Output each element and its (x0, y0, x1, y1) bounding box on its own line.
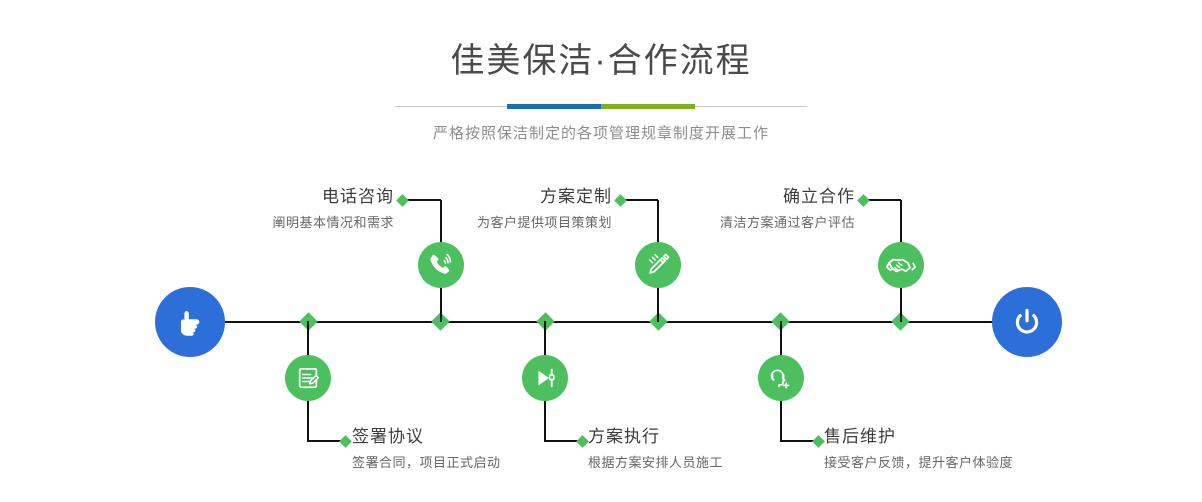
play-execute-icon (531, 364, 559, 392)
document-edit-icon (294, 364, 322, 392)
step-label-1: 电话咨询 阐明基本情况和需求 (150, 188, 394, 229)
step-title: 电话咨询 (150, 188, 394, 205)
connector-tip (339, 435, 352, 448)
handshake-icon (886, 250, 916, 280)
step-desc: 为客户提供项目策策划 (390, 216, 612, 229)
timeline-start-node[interactable] (155, 287, 225, 357)
step-desc: 根据方案安排人员施工 (588, 456, 846, 469)
step-title: 方案定制 (390, 188, 612, 205)
step-desc: 签署合同，项目正式启动 (352, 456, 612, 469)
connector-tip (614, 194, 627, 207)
phone-call-icon (426, 250, 456, 280)
timeline-end-node[interactable] (992, 287, 1062, 357)
step-title: 确立合作 (640, 188, 855, 205)
step-desc: 清洁方案通过客户评估 (640, 216, 855, 229)
step-icon-6[interactable] (758, 355, 804, 401)
step-icon-1[interactable] (418, 242, 464, 288)
pointing-hand-icon (170, 302, 210, 342)
step-label-3: 方案定制 为客户提供项目策策划 (390, 188, 612, 229)
connector-tip (857, 194, 870, 207)
step-label-6: 售后维护 接受客户反馈，提升客户体验度 (824, 428, 1124, 469)
flow-chart-page: 佳美保洁·合作流程 严格按照保洁制定的各项管理规章制度开展工作 (0, 0, 1202, 502)
step-label-4: 方案执行 根据方案安排人员施工 (588, 428, 846, 469)
pencil-ruler-icon (644, 251, 672, 279)
step-icon-5[interactable] (878, 242, 924, 288)
customer-service-icon (767, 364, 795, 392)
process-timeline: 电话咨询 阐明基本情况和需求 签署协议 签署合同，项目正式启动 (0, 0, 1202, 502)
step-label-2: 签署协议 签署合同，项目正式启动 (352, 428, 612, 469)
power-icon (1007, 302, 1047, 342)
step-icon-4[interactable] (522, 355, 568, 401)
step-title: 方案执行 (588, 428, 846, 445)
step-title: 签署协议 (352, 428, 612, 445)
step-desc: 接受客户反馈，提升客户体验度 (824, 456, 1124, 469)
step-icon-3[interactable] (635, 242, 681, 288)
step-label-5: 确立合作 清洁方案通过客户评估 (640, 188, 855, 229)
step-desc: 阐明基本情况和需求 (150, 216, 394, 229)
step-icon-2[interactable] (285, 355, 331, 401)
step-title: 售后维护 (824, 428, 1124, 445)
